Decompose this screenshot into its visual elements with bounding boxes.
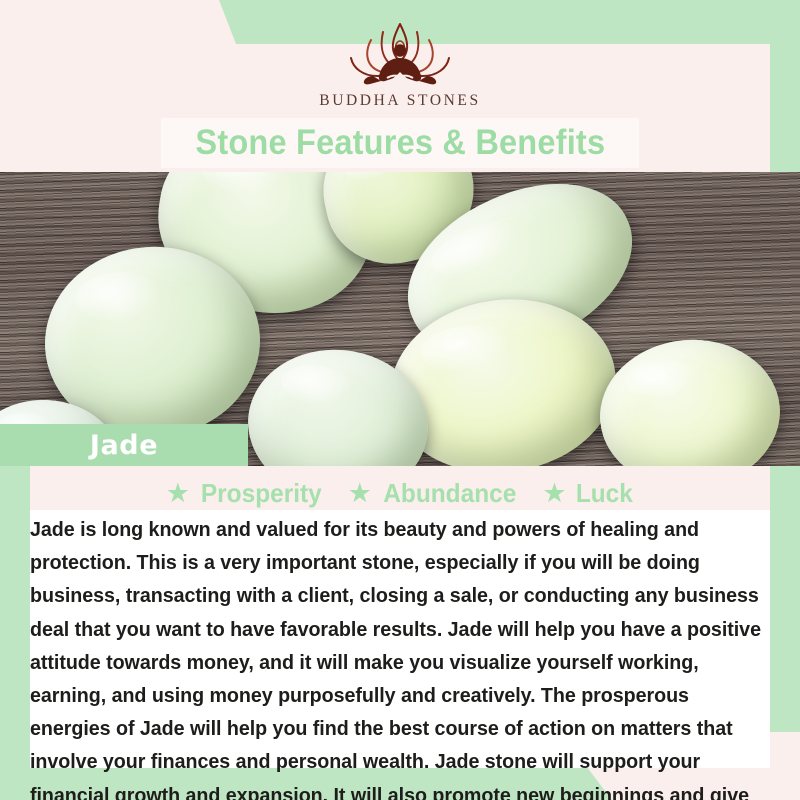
star-icon: ★ (348, 480, 372, 507)
benefit-label: Abundance (383, 478, 516, 509)
star-icon: ★ (166, 480, 190, 507)
benefit-label: Prosperity (201, 478, 322, 509)
page-title: Stone Features & Benefits (195, 123, 605, 163)
stone-name-band: Jade (0, 424, 248, 466)
stone-name-label: Jade (90, 430, 158, 461)
description-text: Jade is long known and valued for its be… (30, 510, 769, 800)
benefit-item: ★ Prosperity (166, 478, 326, 509)
star-icon: ★ (542, 480, 566, 507)
stone-photo (0, 172, 800, 466)
benefit-item: ★ Luck (542, 478, 634, 509)
title-band: Stone Features & Benefits (161, 118, 639, 168)
benefit-label: Luck (575, 478, 632, 509)
poster-root: BUDDHA STONES Stone Features & Benefits … (0, 0, 800, 800)
description-panel: Jade is long known and valued for its be… (30, 510, 770, 768)
benefit-item: ★ Abundance (348, 478, 521, 509)
benefits-row: ★ Prosperity ★ Abundance ★ Luck (0, 476, 800, 510)
brand-header: BUDDHA STONES (0, 18, 800, 118)
brand-name: BUDDHA STONES (319, 92, 480, 110)
lotus-meditation-icon (325, 18, 475, 90)
